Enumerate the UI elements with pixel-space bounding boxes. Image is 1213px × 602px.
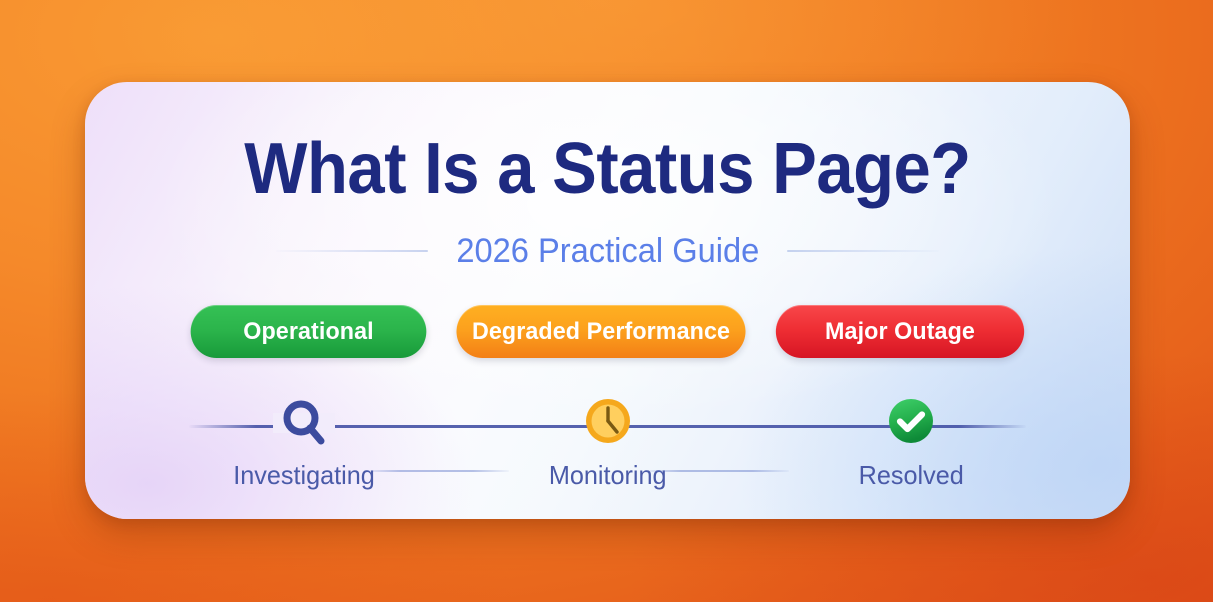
status-pill-group: Operational Degraded Performance Major O… bbox=[85, 305, 1130, 358]
status-pill-degraded-performance[interactable]: Degraded Performance bbox=[456, 305, 745, 358]
incident-timeline: Investigating Monitoring bbox=[85, 392, 1130, 502]
timeline-stage-monitoring[interactable]: Monitoring bbox=[493, 392, 723, 490]
timeline-stage-label-investigating: Investigating bbox=[233, 460, 375, 490]
timeline-stage-resolved[interactable]: Resolved bbox=[796, 392, 1026, 490]
status-pill-operational[interactable]: Operational bbox=[191, 305, 427, 358]
page-title: What Is a Status Page? bbox=[122, 129, 1094, 209]
timeline-stage-label-monitoring: Monitoring bbox=[549, 460, 667, 490]
clock-icon bbox=[577, 392, 639, 454]
infographic-canvas: What Is a Status Page? 2026 Practical Gu… bbox=[0, 0, 1213, 602]
page-subtitle: 2026 Practical Guide bbox=[456, 231, 759, 271]
subtitle-row: 2026 Practical Guide bbox=[85, 229, 1130, 273]
magnifier-icon bbox=[273, 392, 335, 454]
timeline-stage-label-resolved: Resolved bbox=[858, 460, 963, 490]
timeline-stage-investigating[interactable]: Investigating bbox=[189, 392, 419, 490]
status-pill-major-outage[interactable]: Major Outage bbox=[776, 305, 1024, 358]
check-circle-icon bbox=[880, 392, 942, 454]
content-card: What Is a Status Page? 2026 Practical Gu… bbox=[85, 82, 1130, 519]
subtitle-rule-left bbox=[276, 250, 428, 252]
timeline-label-connector-2 bbox=[644, 470, 789, 472]
subtitle-rule-right bbox=[787, 250, 939, 252]
timeline-label-connectors bbox=[189, 470, 1026, 473]
timeline-label-connector-1 bbox=[364, 470, 509, 472]
